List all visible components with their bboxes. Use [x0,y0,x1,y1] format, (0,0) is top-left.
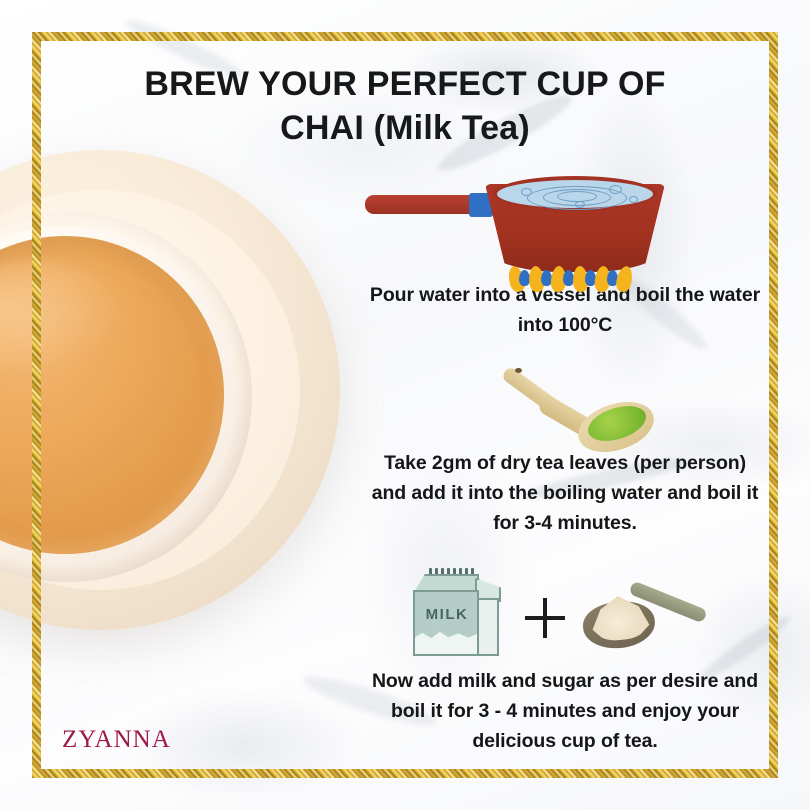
water-bubble [521,188,532,196]
milk-carton-label: MILK [419,606,475,623]
cup-of-chai-photo [0,150,390,710]
plus-icon [525,598,565,638]
sugar-spoon-icon [577,574,707,652]
brand-logo: ZYANNA [62,726,171,754]
recipe-step-2: Take 2gm of dry tea leaves (per person) … [355,356,775,538]
page-title: BREW YOUR PERFECT CUP OF CHAI (Milk Tea) [90,62,720,150]
recipe-step-3-text: Now add milk and sugar as per desire and… [355,666,775,756]
title-line-1: BREW YOUR PERFECT CUP OF [144,65,665,103]
recipe-step-1: Pour water into a vessel and boil the wa… [355,168,775,340]
wooden-spoon-hanging-hole [515,368,522,373]
water-bubble [575,201,585,208]
saucepan-handle [365,195,483,214]
recipe-steps: Pour water into a vessel and boil the wa… [355,168,775,758]
water-bubble [609,185,622,194]
stove-flames [507,264,645,292]
saucepan-boiling-water-icon [355,168,775,280]
recipe-step-2-text: Take 2gm of dry tea leaves (per person) … [355,448,775,538]
water-bubble [629,196,638,203]
milk-carton-plus-sugar-spoon-icon: MILK [355,554,775,666]
recipe-step-3: MILK Now add milk and sugar as per desir… [355,554,775,756]
flame [614,265,634,294]
title-line-2: CHAI (Milk Tea) [90,106,720,150]
milk-carton-side-panel [479,598,499,656]
wooden-spoon-tea-leaves-icon [355,356,775,448]
saucepan-water-surface [493,176,657,212]
milk-carton-icon: MILK [413,568,499,656]
recipe-poster: BREW YOUR PERFECT CUP OF CHAI (Milk Tea) [0,0,810,810]
